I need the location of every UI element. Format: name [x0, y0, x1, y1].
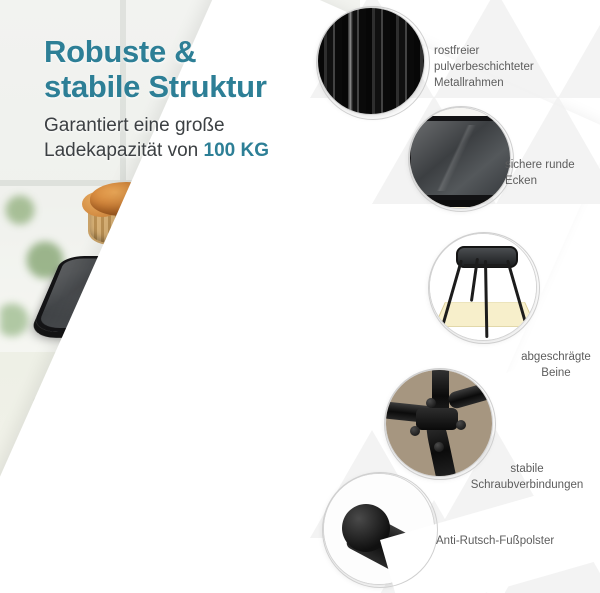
headline-line-2: stabile Struktur	[44, 69, 269, 104]
subheadline-line-2: Ladekapazität von 100 KG	[44, 139, 269, 164]
callout-label-line: Metallrahmen	[434, 76, 554, 92]
callout-connector-foot-pads	[322, 472, 438, 588]
capacity-prefix: Ladekapazität von	[44, 140, 204, 161]
callout-connector-round-corners	[408, 106, 514, 212]
callout-connector-slanted-legs	[428, 232, 540, 344]
callout-connector-metal-frame	[316, 6, 430, 120]
callout-label-line: sichere runde	[505, 158, 600, 174]
callout-label-line: abgeschrägte	[510, 350, 600, 366]
product-marketing-image: Robuste & stabile Struktur Garantiert ei…	[0, 0, 600, 593]
headline-line-1: Robuste &	[44, 34, 269, 69]
callout-label-round-corners: sichere runde Ecken	[505, 158, 600, 190]
callout-label-line: Ecken	[505, 174, 600, 190]
callout-label-line: pulverbeschichteter	[434, 60, 554, 76]
capacity-value: 100 KG	[204, 140, 269, 161]
callout-label-line: Beine	[510, 366, 600, 382]
callout-label-line: Anti-Rutsch-Fußpolster	[436, 534, 596, 550]
headline-block: Robuste & stabile Struktur Garantiert ei…	[44, 34, 269, 164]
subheadline-line-1: Garantiert eine große	[44, 114, 269, 139]
callout-label-line: stabile	[452, 462, 600, 478]
callout-label-foot-pads: Anti-Rutsch-Fußpolster	[436, 534, 596, 550]
callout-label-line: Schraubverbindungen	[452, 478, 600, 494]
callout-label-metal-frame: rostfreier pulverbeschichteter Metallrah…	[434, 44, 554, 92]
callout-label-screw-joints: stabile Schraubverbindungen	[452, 462, 600, 494]
callout-label-slanted-legs: abgeschrägte Beine	[510, 350, 600, 382]
callout-label-line: rostfreier	[434, 44, 554, 60]
